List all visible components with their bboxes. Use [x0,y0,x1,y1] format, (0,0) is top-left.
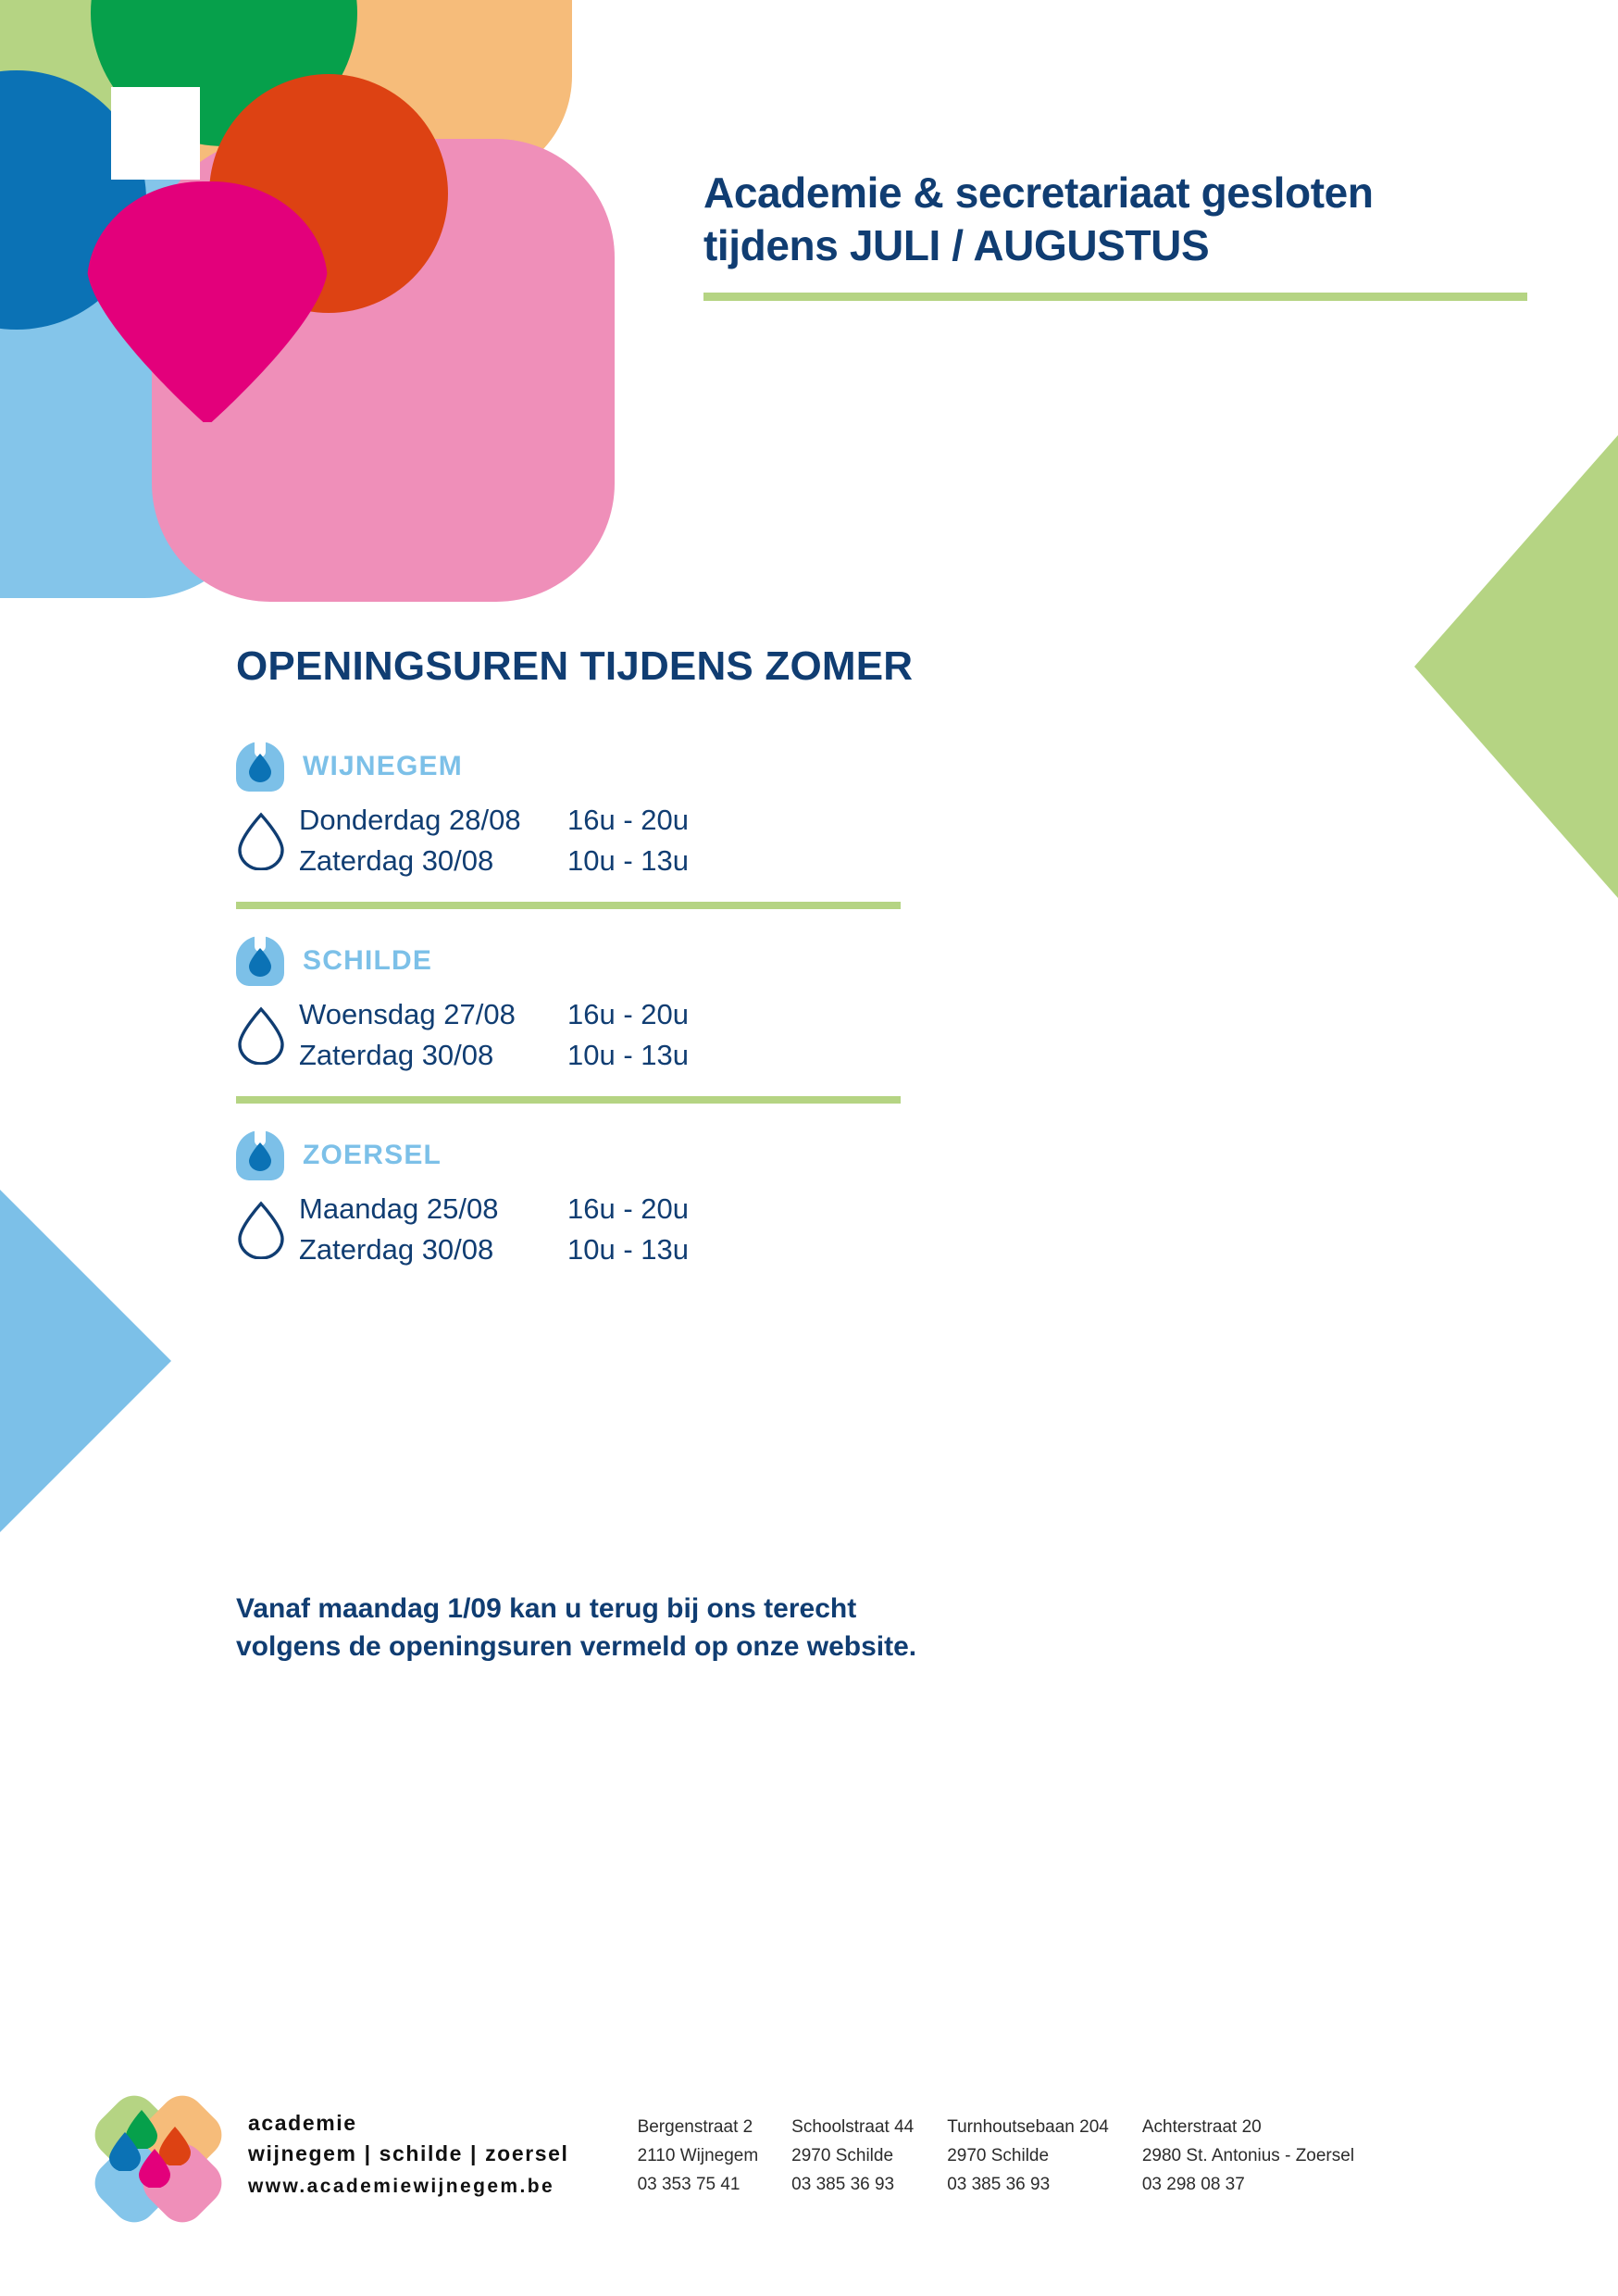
address-city: 2970 Schilde [947,2142,1109,2171]
location-drop-badge-icon [236,1130,284,1180]
address-block: Bergenstraat 2 2110 Wijnegem 03 353 75 4… [638,2114,759,2199]
location-schedule: Donderdag 28/08 16u - 20u Zaterdag 30/08… [236,800,921,881]
schedule-hours: 16u - 20u [567,1189,689,1229]
water-drop-icon [248,1142,272,1171]
page-title-line-1: Academie & secretariaat gesloten [703,168,1374,217]
decorative-blob-cluster [0,0,703,648]
address-street: Schoolstraat 44 [791,2114,914,2142]
schedule-day: Donderdag 28/08 [299,800,567,841]
schedule-row: Zaterdag 30/08 10u - 13u [299,1035,921,1076]
water-drop-outline-icon [236,1200,286,1259]
logo-website[interactable]: www.academiewijnegem.be [248,2170,569,2203]
address-block: Schoolstraat 44 2970 Schilde 03 385 36 9… [791,2114,914,2199]
footer: academie wijnegem | schilde | zoersel ww… [93,2088,1537,2228]
closing-note: Vanaf maandag 1/09 kan u terug bij ons t… [236,1591,1115,1666]
logo-line-locations: wijnegem | schilde | zoersel [248,2139,569,2169]
schedule-row: Donderdag 28/08 16u - 20u [299,800,921,841]
schedule-day: Zaterdag 30/08 [299,841,567,881]
section-divider [236,1096,901,1104]
schedule-row: Woensdag 27/08 16u - 20u [299,994,921,1035]
schedule-day: Woensdag 27/08 [299,994,567,1035]
location-header: ZOERSEL [236,1129,921,1181]
address-block: Achterstraat 20 2980 St. Antonius - Zoer… [1142,2114,1354,2199]
blue-arrow-left-edge [0,1190,171,1532]
logo-drop-magenta-icon [137,2147,172,2188]
page-title-line-2: tijdens JULI / AUGUSTUS [703,221,1209,269]
section-divider [236,902,901,909]
schedule-day: Zaterdag 30/08 [299,1035,567,1076]
green-arrow-right-edge [1414,435,1618,898]
closing-note-line-2: volgens de openingsuren vermeld op onze … [236,1628,1115,1666]
location-name-label: WIJNEGEM [303,751,463,782]
location-section-schilde: SCHILDE Woensdag 27/08 16u - 20u Zaterda… [236,935,921,1104]
schedule-hours: 10u - 13u [567,1035,689,1076]
schedule-hours: 16u - 20u [567,800,689,841]
location-header: WIJNEGEM [236,741,921,792]
logo-line-academie: academie [248,2108,569,2139]
schedule-row: Maandag 25/08 16u - 20u [299,1189,921,1229]
address-block: Turnhoutsebaan 204 2970 Schilde 03 385 3… [947,2114,1109,2199]
logo-wordmark: academie wijnegem | schilde | zoersel ww… [248,2088,569,2202]
schedule-day: Maandag 25/08 [299,1189,567,1229]
schedule-row: Zaterdag 30/08 10u - 13u [299,841,921,881]
schedule-hours: 10u - 13u [567,841,689,881]
address-street: Bergenstraat 2 [638,2114,759,2142]
header-divider [703,293,1527,301]
address-city: 2980 St. Antonius - Zoersel [1142,2142,1354,2171]
opening-hours-list: WIJNEGEM Donderdag 28/08 16u - 20u Zater… [236,741,921,1270]
water-drop-outline-icon [236,1005,286,1065]
location-name-label: SCHILDE [303,945,432,977]
address-city: 2110 Wijnegem [638,2142,759,2171]
address-phone: 03 385 36 93 [947,2171,1109,2200]
schedule-hours: 10u - 13u [567,1229,689,1270]
address-street: Turnhoutsebaan 204 [947,2114,1109,2142]
address-street: Achterstraat 20 [1142,2114,1354,2142]
academy-logo-icon [93,2097,224,2228]
water-drop-icon [248,753,272,782]
location-drop-badge-icon [236,742,284,792]
address-city: 2970 Schilde [791,2142,914,2171]
schedule-day: Zaterdag 30/08 [299,1229,567,1270]
schedule-row: Zaterdag 30/08 10u - 13u [299,1229,921,1270]
location-schedule: Maandag 25/08 16u - 20u Zaterdag 30/08 1… [236,1189,921,1270]
location-drop-badge-icon [236,936,284,986]
location-header: SCHILDE [236,935,921,987]
address-phone: 03 385 36 93 [791,2171,914,2200]
location-name-label: ZOERSEL [303,1140,442,1171]
blob-white-square [111,87,200,180]
schedule-hours: 16u - 20u [567,994,689,1035]
page-title: Academie & secretariaat gesloten tijdens… [703,167,1537,272]
location-section-zoersel: ZOERSEL Maandag 25/08 16u - 20u Zaterdag… [236,1129,921,1270]
closing-note-line-1: Vanaf maandag 1/09 kan u terug bij ons t… [236,1591,1115,1628]
section-heading-openingsuren: OPENINGSUREN TIJDENS ZOMER [236,643,913,690]
location-section-wijnegem: WIJNEGEM Donderdag 28/08 16u - 20u Zater… [236,741,921,909]
address-phone: 03 298 08 37 [1142,2171,1354,2200]
footer-addresses: Bergenstraat 2 2110 Wijnegem 03 353 75 4… [638,2088,1388,2199]
water-drop-icon [248,947,272,977]
header: Academie & secretariaat gesloten tijdens… [703,167,1537,301]
location-schedule: Woensdag 27/08 16u - 20u Zaterdag 30/08 … [236,994,921,1076]
water-drop-outline-icon [236,811,286,870]
address-phone: 03 353 75 41 [638,2171,759,2200]
